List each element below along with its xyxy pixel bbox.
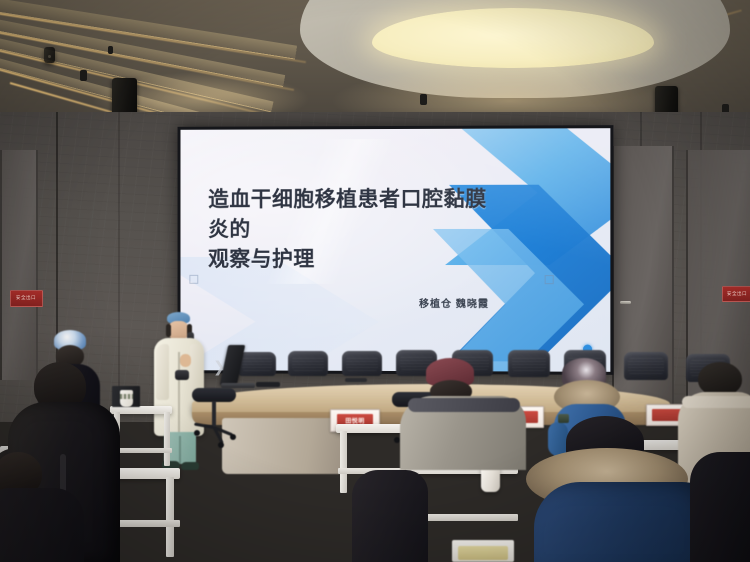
- table-remote[interactable]: [256, 382, 280, 387]
- audience-member-9: [690, 452, 750, 562]
- audience-member-10: [352, 470, 428, 562]
- slide-marker-left: [189, 275, 198, 284]
- paper-cup[interactable]: [120, 390, 133, 407]
- conference-chair-3[interactable]: [342, 351, 382, 376]
- exit-sign-left: 安全出口: [10, 290, 43, 307]
- slide-title-line-1: 造血干细胞移植患者口腔黏膜炎的: [208, 185, 507, 245]
- ceiling-spotlight-left: [44, 47, 55, 63]
- office-chair-left[interactable]: [192, 388, 238, 460]
- slide-marker-right: [545, 275, 554, 284]
- conference-chair-2[interactable]: [288, 351, 328, 376]
- slide-title: 造血干细胞移植患者口腔黏膜炎的 观察与护理: [208, 185, 507, 275]
- conference-table-base: [222, 418, 344, 474]
- audience-member-4: [0, 452, 84, 562]
- table-microphone[interactable]: [345, 378, 367, 382]
- exit-sign-left-text: 安全出口: [16, 296, 36, 301]
- slide-presenter-name: 移植仓 魏晓霞: [419, 295, 489, 310]
- door-left[interactable]: [0, 150, 38, 380]
- food-tray[interactable]: [452, 540, 514, 562]
- projection-screen-bezel: 造血干细胞移植患者口腔黏膜炎的 观察与护理 移植仓 魏晓霞: [178, 125, 614, 375]
- exit-sign-right: 安全出口: [722, 286, 750, 302]
- presenter-phone: [175, 370, 189, 380]
- conference-chair-1[interactable]: [238, 352, 276, 376]
- projection-screen: 造血干细胞移植患者口腔黏膜炎的 观察与护理 移植仓 魏晓霞: [181, 128, 611, 372]
- exit-sign-right-text: 安全出口: [727, 292, 747, 297]
- slide-title-line-2: 观察与护理: [208, 245, 507, 275]
- lecture-room-photo: 安全出口 安全出口 造血干细胞移植患者口腔黏膜炎的 观察与护理 移植仓 魏晓霞 …: [0, 0, 750, 562]
- presenter-shoe-right: [181, 462, 199, 470]
